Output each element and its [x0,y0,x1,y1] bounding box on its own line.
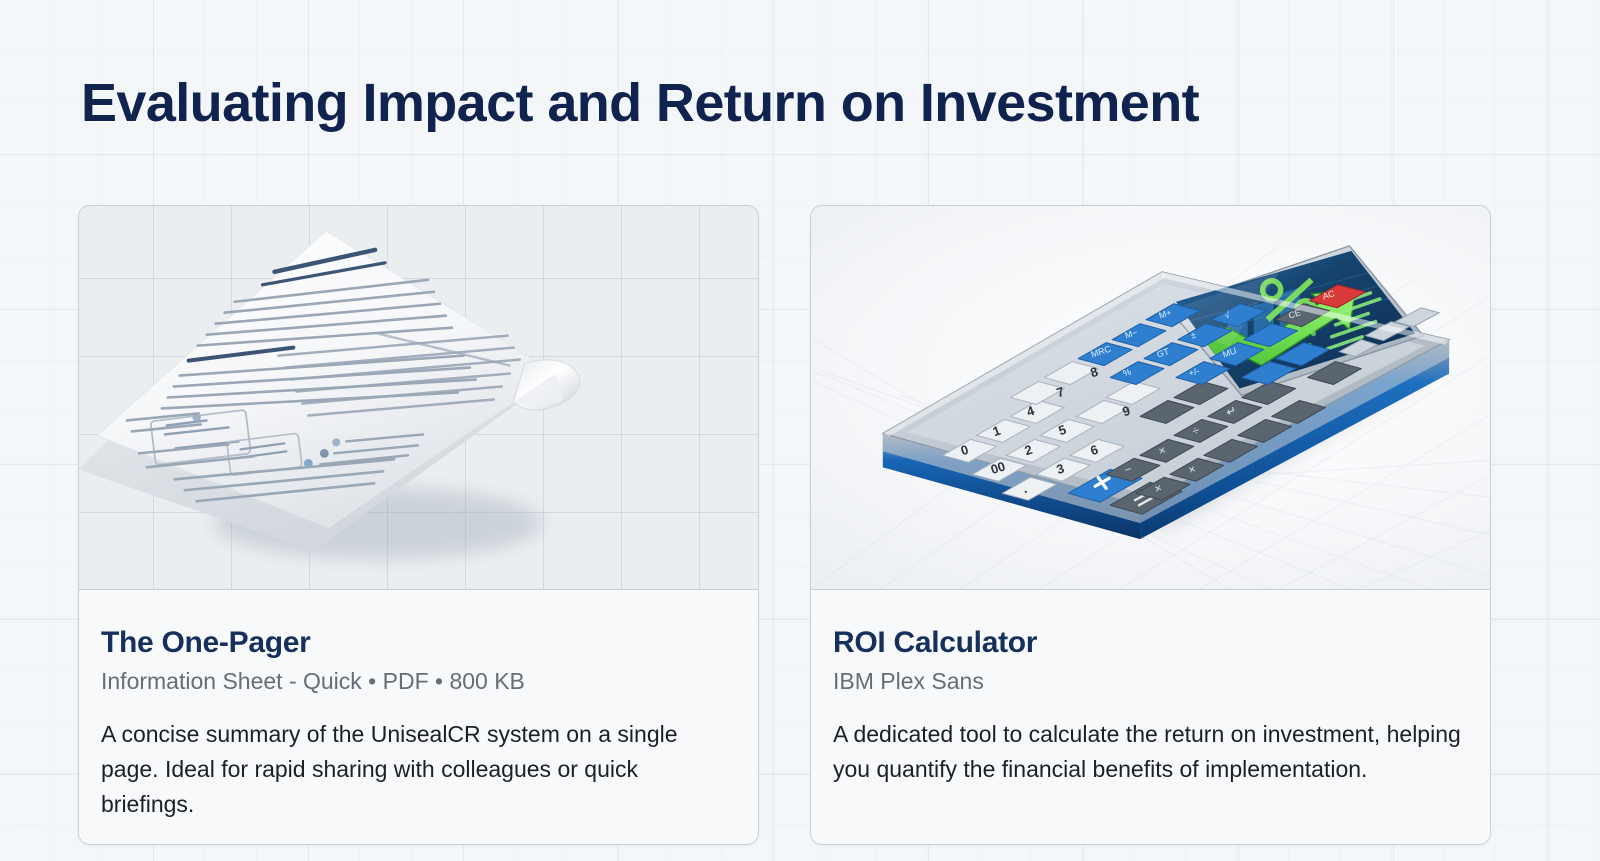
card-one-pager[interactable]: The One-Pager Information Sheet - Quick … [78,205,759,845]
one-pager-description: A concise summary of the UnisealCR syste… [101,717,736,822]
card-roi-calculator[interactable]: 0 1 4 00 2 5 . 3 6 7 8 9 [810,205,1491,845]
roi-calculator-title: ROI Calculator [833,626,1468,660]
one-pager-image-panel [79,206,758,590]
roi-calculator-text-block: ROI Calculator IBM Plex Sans A dedicated… [811,590,1490,844]
one-pager-title: The One-Pager [101,626,736,660]
roi-calculator-description: A dedicated tool to calculate the return… [833,717,1468,787]
one-pager-text-block: The One-Pager Information Sheet - Quick … [79,590,758,844]
card-grid: The One-Pager Information Sheet - Quick … [78,205,1491,845]
roi-calculator-image-panel: 0 1 4 00 2 5 . 3 6 7 8 9 [811,206,1490,590]
page-title: Evaluating Impact and Return on Investme… [81,72,1199,134]
roi-calculator-meta: IBM Plex Sans [833,668,1468,696]
one-pager-meta: Information Sheet - Quick • PDF • 800 KB [101,668,736,696]
calculator-illustration: 0 1 4 00 2 5 . 3 6 7 8 9 [811,206,1490,589]
document-sheet-illustration [79,206,758,589]
